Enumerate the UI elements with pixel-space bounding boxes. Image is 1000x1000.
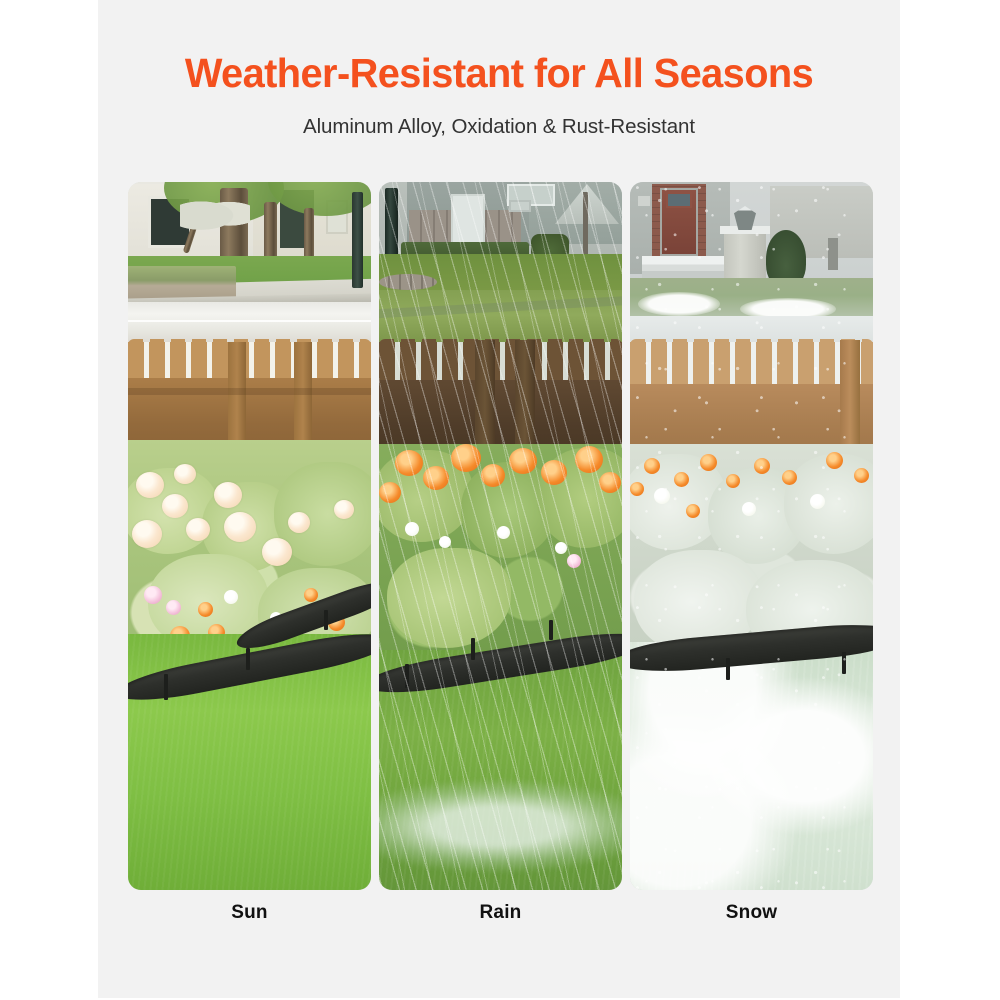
- sun-rose-5: [214, 482, 242, 508]
- sun-rose-7: [262, 538, 292, 566]
- sun-rose-2: [162, 494, 188, 518]
- sun-rose-10: [174, 464, 196, 484]
- sun-fence-picket-caps: [128, 339, 371, 349]
- panel-snow: [630, 182, 873, 890]
- panel-rain: [379, 182, 622, 890]
- sun-rose-6: [224, 512, 256, 542]
- rain-patio-door: [451, 194, 485, 244]
- snow-house-number-plate: [638, 196, 650, 206]
- sun-bushes: [180, 194, 250, 230]
- rain-white-bloom-3: [497, 526, 510, 539]
- sun-rose-3: [132, 520, 162, 548]
- rain-white-bloom-4: [555, 542, 567, 554]
- snow-flower-5: [754, 458, 770, 474]
- snow-white-bloom-2: [742, 502, 756, 516]
- header: Weather-Resistant for All Seasons Alumin…: [98, 0, 900, 139]
- rain-fence-picket-caps: [379, 339, 622, 349]
- snow-flower-4: [726, 474, 740, 488]
- rain-pink-bloom-1: [567, 554, 581, 568]
- rain-stone-ring: [379, 274, 437, 290]
- snow-flower-2: [674, 472, 689, 487]
- rain-white-bloom-2: [439, 536, 451, 548]
- snow-flower-1: [644, 458, 660, 474]
- caption-rain: Rain: [379, 902, 622, 924]
- season-captions: Sun Rain Snow: [128, 902, 872, 924]
- rain-edging-stake-2: [471, 638, 475, 660]
- sun-rose-4: [186, 518, 210, 541]
- rain-lily-8: [599, 472, 621, 493]
- snow-fence-picket-caps: [630, 339, 873, 349]
- panel-sun: [128, 182, 371, 890]
- sun-rose-1: [136, 472, 164, 498]
- sun-fence-rail: [128, 388, 371, 395]
- rain-edging-stake-3: [549, 620, 553, 640]
- sun-zinnia-10: [304, 588, 318, 602]
- caption-snow: Snow: [630, 902, 873, 924]
- snow-edging-stake-1: [726, 658, 730, 680]
- rain-lily-4: [481, 464, 505, 487]
- sun-edging-stake-3: [324, 610, 328, 630]
- snow-flower-8: [854, 468, 869, 483]
- snow-lawn: [630, 642, 873, 890]
- content-card: Weather-Resistant for All Seasons Alumin…: [98, 0, 900, 998]
- snow-post: [828, 238, 838, 270]
- snow-edging-stake-2: [842, 652, 846, 674]
- snow-flower-6: [782, 470, 797, 485]
- caption-sun: Sun: [128, 902, 371, 924]
- sun-zinnia-8: [198, 602, 213, 617]
- snow-door-window: [666, 192, 692, 208]
- sun-pink-bloom-2: [166, 600, 181, 615]
- sun-edging-stake-2: [246, 648, 250, 670]
- rain-white-bloom-1: [405, 522, 419, 536]
- rain-lily-5: [509, 448, 537, 474]
- rain-edging-stake-1: [405, 664, 409, 688]
- snow-patch-1: [638, 292, 720, 316]
- rain-lily-3: [451, 444, 481, 472]
- snow-flower-3: [700, 454, 717, 471]
- snow-flower-10: [630, 482, 644, 496]
- product-feature-image: Weather-Resistant for All Seasons Alumin…: [0, 0, 1000, 1000]
- sun-edging-stake-1: [164, 674, 168, 700]
- snow-flower-9: [686, 504, 700, 518]
- season-panels: [128, 182, 872, 890]
- rain-lily-2: [423, 466, 449, 490]
- sun-lamp-post: [352, 192, 363, 288]
- page-subtitle: Aluminum Alloy, Oxidation & Rust-Resista…: [98, 115, 900, 139]
- sun-white-bloom-1: [224, 590, 238, 604]
- snow-white-bloom-3: [810, 494, 825, 509]
- rain-ac-unit: [509, 200, 531, 212]
- sun-pink-bloom-1: [144, 586, 162, 604]
- page-title: Weather-Resistant for All Seasons: [110, 52, 888, 95]
- rain-splash-spray: [379, 778, 622, 874]
- snow-front-steps: [642, 256, 728, 280]
- rain-lily-7: [575, 446, 603, 473]
- rain-lily-6: [541, 460, 567, 485]
- snow-white-bloom-1: [654, 488, 670, 504]
- rain-lily-9: [379, 482, 401, 503]
- snow-flower-7: [826, 452, 843, 469]
- rain-lily-1: [395, 450, 423, 476]
- sun-rose-9: [334, 500, 354, 519]
- sun-rose-8: [288, 512, 310, 533]
- sun-road: [128, 302, 371, 342]
